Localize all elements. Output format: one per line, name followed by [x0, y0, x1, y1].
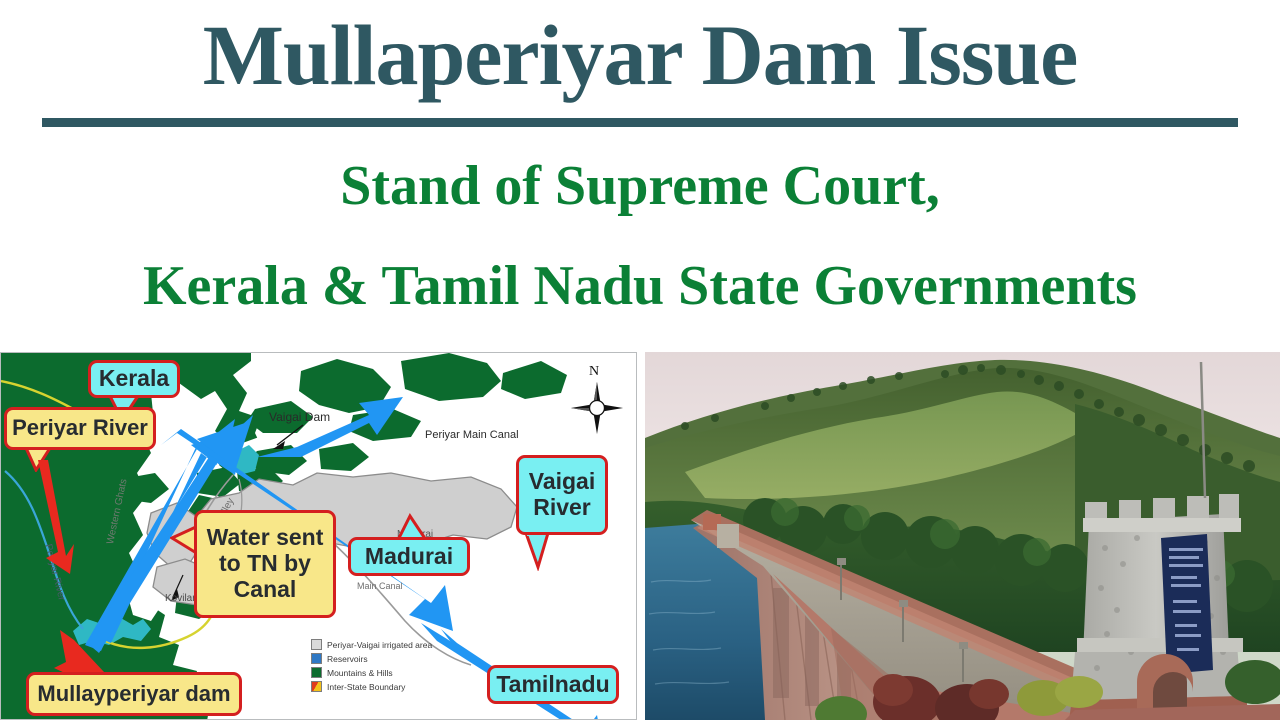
callout-periyar-river: Periyar River [4, 407, 156, 450]
callout-vaigai-river-tail [524, 531, 552, 571]
callout-water-sent: Water sent to TN by Canal [194, 510, 336, 618]
legend-swatch-irrigated [311, 639, 322, 650]
map-label-main-canal: Main Canal [357, 581, 403, 591]
legend-item: Reservoirs [311, 652, 461, 665]
legend-label: Inter-State Boundary [327, 682, 405, 692]
callout-madurai: Madurai [348, 537, 470, 576]
callout-vaigai-river: Vaigai River [516, 455, 608, 535]
subtitle-line-2: Kerala & Tamil Nadu State Governments [0, 258, 1280, 314]
legend-swatch-mountains [311, 667, 322, 678]
callout-water-sent-line3: Canal [234, 576, 297, 602]
callout-kerala: Kerala [88, 360, 180, 398]
title-header: Mullaperiyar Dam Issue Stand of Supreme … [0, 0, 1280, 352]
poster-root: Mullaperiyar Dam Issue Stand of Supreme … [0, 0, 1280, 720]
callout-periyar-river-pointer-arrow [26, 452, 96, 582]
callout-water-sent-line1: Water sent [207, 524, 324, 550]
map-label-periyar-main-canal: Periyar Main Canal [425, 429, 519, 441]
compass-north-label: N [589, 364, 599, 380]
callout-water-sent-line2: to TN by [219, 550, 311, 576]
dam-photograph [645, 352, 1280, 720]
callout-kerala-label: Kerala [99, 366, 169, 392]
callout-water-sent-label: Water sent to TN by Canal [207, 525, 324, 602]
legend-item: Mountains & Hills [311, 666, 461, 679]
callout-periyar-river-label: Periyar River [12, 416, 148, 441]
callout-tamilnadu: Tamilnadu [487, 665, 619, 704]
legend-swatch-reservoirs [311, 653, 322, 664]
map-legend: Periyar-Vaigai irrigated area Reservoirs… [311, 638, 461, 694]
legend-swatch-boundary [311, 681, 322, 692]
callout-tamilnadu-label: Tamilnadu [496, 672, 609, 698]
subtitle-line-1: Stand of Supreme Court, [0, 158, 1280, 214]
callout-madurai-label: Madurai [365, 544, 453, 570]
compass-rose: N [567, 364, 627, 436]
legend-item: Periyar-Vaigai irrigated area [311, 638, 461, 651]
legend-label: Reservoirs [327, 654, 368, 664]
map-label-vaigai-dam: Vaigai Dam [269, 410, 330, 424]
callout-vaigai-river-line1: Vaigai [529, 468, 595, 494]
callout-mullayperiyar-dam: Mullayperiyar dam [26, 672, 242, 716]
compass-icon [567, 380, 627, 436]
page-title: Mullaperiyar Dam Issue [0, 12, 1280, 98]
legend-label: Mountains & Hills [327, 668, 393, 678]
legend-item: Inter-State Boundary [311, 680, 461, 693]
callout-vaigai-river-line2: River [533, 494, 591, 520]
legend-label: Periyar-Vaigai irrigated area [327, 640, 432, 650]
map-label-kovilar: Kovilar [165, 593, 196, 604]
title-underline [42, 118, 1238, 127]
callout-vaigai-river-label: Vaigai River [529, 469, 595, 521]
dam-photo-graphic [645, 352, 1280, 720]
callout-mullayperiyar-dam-label: Mullayperiyar dam [37, 682, 230, 707]
